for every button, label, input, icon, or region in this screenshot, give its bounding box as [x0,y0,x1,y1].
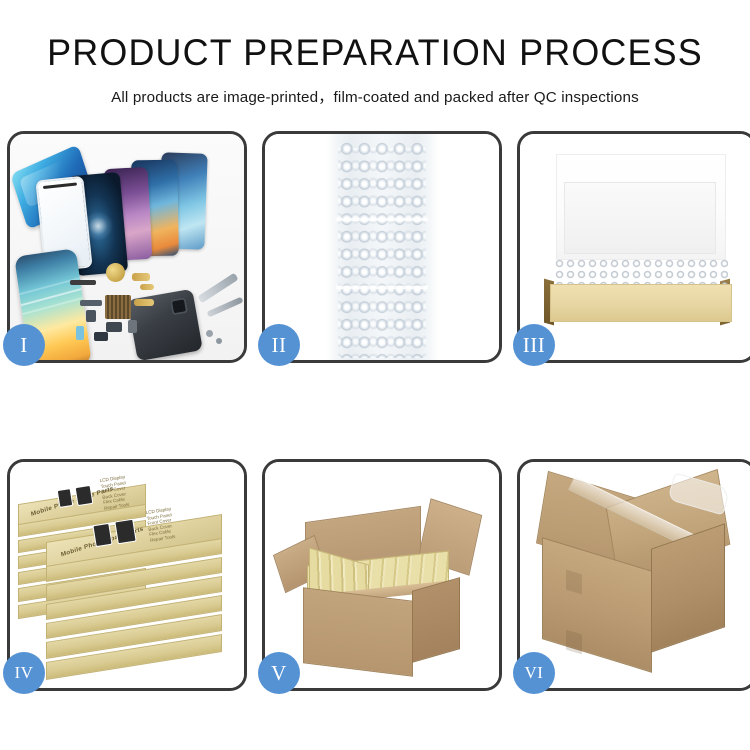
step-card-3[interactable]: III [517,131,750,363]
step-badge-1: I [3,324,45,366]
earpiece-mesh-part [70,280,96,285]
step-card-1[interactable]: I [7,131,247,363]
step-card-6[interactable]: VI [517,459,750,691]
speaker-part [106,263,125,282]
inner-box-bubble-wrap-contents [554,258,728,286]
wrap-seam-top [336,218,428,221]
step-card-2[interactable]: II [262,131,502,363]
flex-cable-part-3 [134,299,154,306]
step-badge-5: V [258,652,300,694]
retail-box-phone-graphic-2b [114,519,136,545]
carton-handle-tab-bottom [566,630,582,655]
page-title: PRODUCT PREPARATION PROCESS [11,34,739,71]
step-badge-4: IV [3,652,45,694]
step-2-illustration [265,134,499,360]
page-header: PRODUCT PREPARATION PROCESS All products… [0,0,750,107]
step-3-illustration [520,134,750,360]
step-badge-3: III [513,324,555,366]
retail-box-checklist-1: LCD Display Touch Panel Front Cover Back… [99,472,146,512]
tweezers-tool [197,273,238,304]
sim-tray-part [128,320,137,333]
bubble-wrap-bubbles-layer2 [338,148,426,358]
wrap-seam-bottom [336,286,428,289]
retail-box-phone-graphic-1b [75,485,94,506]
carton-side-panel [412,577,460,663]
connector-part [94,332,108,341]
page-subtitle: All products are image-printed，film-coat… [0,85,750,107]
step-5-illustration [265,462,499,688]
step-card-4[interactable]: Mobile Phone Spare Parts LCD Display Tou… [7,459,247,691]
screw-part-1 [206,330,213,337]
battery-part [76,326,84,340]
inner-box-front-panel [550,284,732,322]
retail-box-phone-graphic-2a [92,523,112,547]
retail-box-phone-graphic-1a [57,488,74,508]
carton-front-panel [303,587,413,677]
flex-cable-part-2 [140,284,154,290]
process-step-grid: I II III Mobile Phone Spare Parts [0,131,750,691]
vibrator-part [106,322,122,332]
step-card-5[interactable]: V [262,459,502,691]
camera-module-part [86,310,96,322]
flex-cable-part-1 [132,273,150,281]
step-4-illustration: Mobile Phone Spare Parts LCD Display Tou… [10,462,244,688]
antenna-part [80,300,102,306]
retail-box-checklist-2: LCD Display Touch Panel Front Cover Back… [145,504,192,544]
screw-tray-part [105,295,131,319]
screw-part-2 [216,338,222,344]
step-badge-2: II [258,324,300,366]
inner-box-foam-sheet [564,182,716,254]
step-6-illustration [520,462,750,688]
step-1-illustration [10,134,244,360]
step-badge-6: VI [513,652,555,694]
screwdriver-tool [206,297,243,318]
